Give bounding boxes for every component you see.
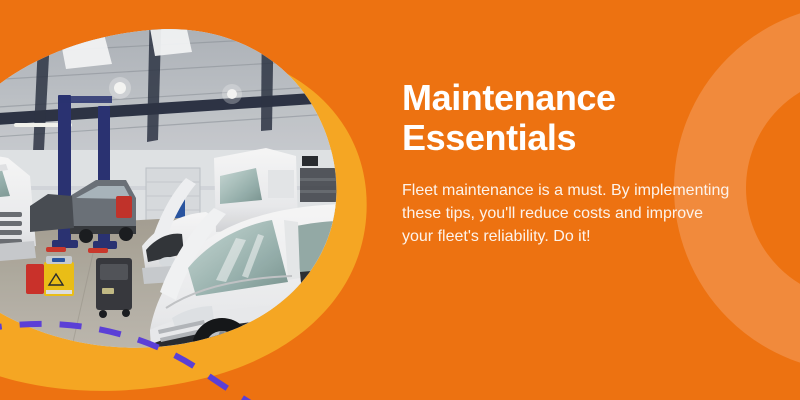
headline-line-1: Maintenance xyxy=(402,78,732,118)
body-copy: Fleet maintenance is a must. By implemen… xyxy=(402,158,732,248)
maintenance-essentials-banner: Maintenance Essentials Fleet maintenance… xyxy=(0,0,800,400)
page-title: Maintenance Essentials xyxy=(402,78,732,158)
text-content-block: Maintenance Essentials Fleet maintenance… xyxy=(402,78,732,248)
headline-line-2: Essentials xyxy=(402,118,732,158)
